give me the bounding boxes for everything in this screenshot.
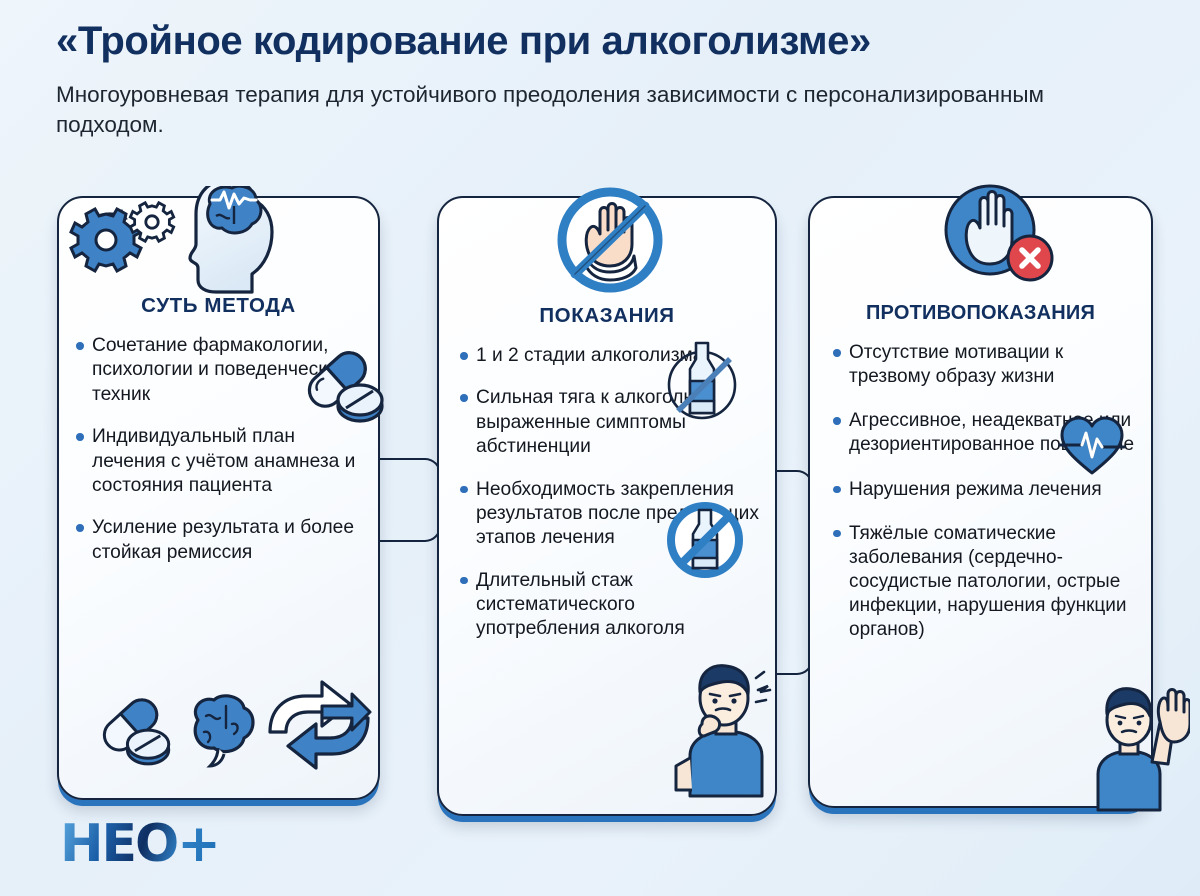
- pills-icon: [292, 344, 390, 435]
- infographic-page: «Тройное кодирование при алкоголизме» Мн…: [0, 0, 1200, 896]
- list-item: Отсутствие мотивации к трезвому образу ж…: [832, 341, 1139, 389]
- card-heading: ПОКАЗАНИЯ: [439, 304, 775, 328]
- man-raised-hand-icon: [1090, 682, 1190, 817]
- heart-ecg-icon: [1058, 415, 1126, 482]
- logo[interactable]: НЕО+: [60, 818, 219, 870]
- no-alcohol-bottle-icon: [663, 498, 747, 587]
- pills-icon: [88, 690, 180, 779]
- stop-hand-icon: [552, 182, 668, 303]
- no-alcohol-bottle-icon: [660, 337, 744, 428]
- list-item: Усиление результата и более стойкая реми…: [75, 516, 364, 565]
- logo-text: НЕО+: [60, 818, 219, 870]
- card-heading: ПРОТИВОПОКАЗАНИЯ: [810, 302, 1151, 325]
- gears-head-brain-icon: [66, 186, 316, 303]
- hand-stop-red-x-icon: [938, 182, 1054, 297]
- list-item: Индивидуальный план лечения с учётом ана…: [75, 425, 364, 498]
- list-item: Тяжёлые соматические заболевания (сердеч…: [832, 522, 1139, 643]
- worried-man-icon: [668, 658, 780, 803]
- bullet-list: Отсутствие мотивации к трезвому образу ж…: [810, 341, 1151, 642]
- cards-container: СУТЬ МЕТОДА Сочетание фармакологии, псих…: [0, 0, 1200, 896]
- shuffle-arrows-icon: [264, 670, 374, 783]
- brain-icon: [182, 694, 258, 777]
